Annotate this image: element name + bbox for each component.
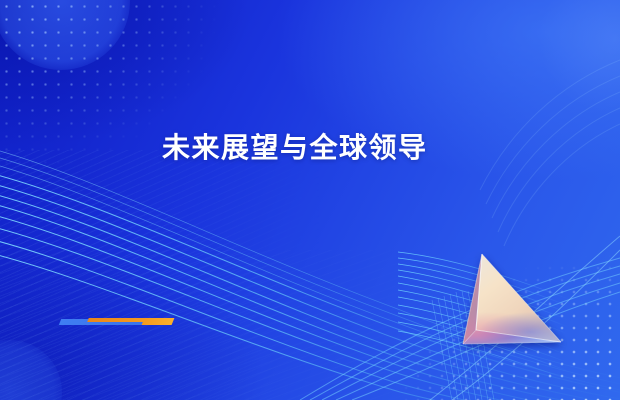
accent-bar: [60, 318, 173, 325]
accent-bar-orange-cap: [142, 318, 175, 325]
presentation-slide: 未来展望与全球领导: [0, 0, 620, 400]
3d-pyramid-icon: [430, 232, 605, 382]
slide-title: 未来展望与全球领导: [162, 131, 428, 165]
